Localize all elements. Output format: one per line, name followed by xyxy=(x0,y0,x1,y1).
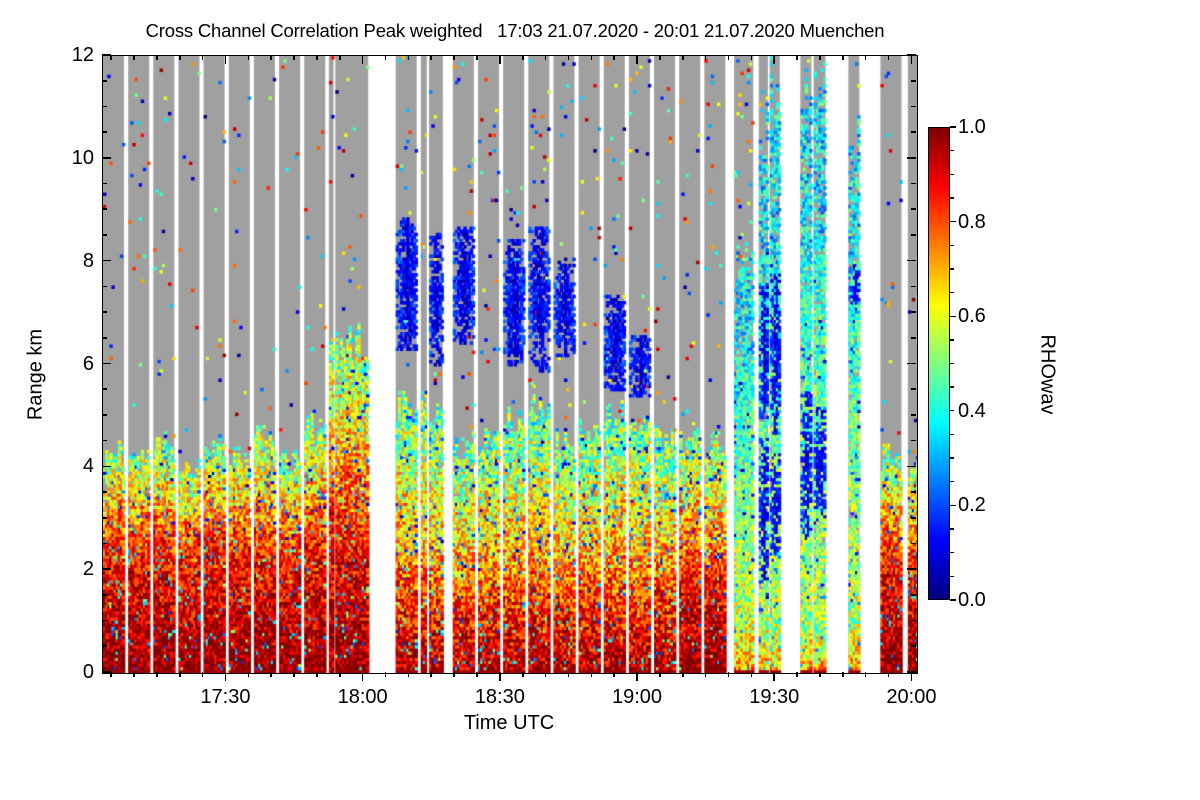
y-minor-tick-right xyxy=(911,620,916,622)
x-minor-tick xyxy=(248,672,250,677)
x-minor-tick-top xyxy=(728,55,730,60)
x-minor-tick-top xyxy=(133,55,135,60)
y-minor-tick xyxy=(102,517,107,519)
x-minor-tick-top xyxy=(522,55,524,60)
x-minor-tick xyxy=(819,672,821,677)
colorbar-minor-tick xyxy=(950,457,954,458)
x-tick-mark xyxy=(773,672,775,681)
x-tick-mark xyxy=(225,672,227,681)
page-title: Cross Channel Correlation Peak weighted … xyxy=(0,20,1030,42)
colorbar-minor-tick xyxy=(950,410,954,411)
x-minor-tick xyxy=(293,672,295,677)
colorbar-tick-mark xyxy=(950,599,956,600)
y-minor-tick xyxy=(102,543,107,545)
y-tick-label: 6 xyxy=(50,354,94,374)
colorbar-tick-label: 1.0 xyxy=(958,117,986,137)
y-tick-mark xyxy=(102,466,111,468)
figure-canvas: Cross Channel Correlation Peak weighted … xyxy=(0,0,1200,800)
x-minor-tick-top xyxy=(385,55,387,60)
y-tick-label: 2 xyxy=(50,559,94,579)
x-minor-tick-top xyxy=(339,55,341,60)
x-minor-tick xyxy=(133,672,135,677)
x-minor-tick xyxy=(888,672,890,677)
x-minor-tick-top xyxy=(796,55,798,60)
y-tick-mark xyxy=(102,260,111,262)
x-tick-label: 20:00 xyxy=(851,686,971,709)
x-minor-tick-top xyxy=(453,55,455,60)
colorbar[interactable] xyxy=(928,127,950,600)
y-minor-tick-right xyxy=(911,183,916,185)
y-minor-tick-right xyxy=(911,311,916,313)
x-minor-tick xyxy=(659,672,661,677)
colorbar-minor-tick xyxy=(950,434,954,435)
colorbar-minor-tick xyxy=(950,386,954,387)
x-minor-tick-top xyxy=(430,55,432,60)
x-minor-tick-top xyxy=(316,55,318,60)
x-minor-tick xyxy=(751,672,753,677)
y-tick-mark-right xyxy=(907,466,916,468)
x-minor-tick-top xyxy=(202,55,204,60)
x-tick-mark xyxy=(911,672,913,681)
y-minor-tick xyxy=(102,645,107,647)
y-tick-mark xyxy=(102,157,111,159)
x-minor-tick xyxy=(385,672,387,677)
y-minor-tick-right xyxy=(911,491,916,493)
x-minor-tick-top xyxy=(613,55,615,60)
x-tick-label: 18:00 xyxy=(303,686,423,709)
x-tick-mark-top xyxy=(636,55,638,64)
x-minor-tick xyxy=(156,672,158,677)
colorbar-tick-mark xyxy=(950,221,956,222)
y-minor-tick-right xyxy=(911,80,916,82)
colorbar-tick-mark xyxy=(950,316,956,317)
y-minor-tick xyxy=(102,337,107,339)
heatmap-plot-area[interactable] xyxy=(102,55,918,674)
y-minor-tick-right xyxy=(911,517,916,519)
colorbar-minor-tick xyxy=(950,528,954,529)
y-minor-tick xyxy=(102,620,107,622)
y-tick-mark xyxy=(102,568,111,570)
y-minor-tick-right xyxy=(911,131,916,133)
y-minor-tick-right xyxy=(911,388,916,390)
colorbar-tick-label: 0.4 xyxy=(958,401,986,421)
y-minor-tick-right xyxy=(911,440,916,442)
colorbar-gradient xyxy=(928,127,950,600)
x-minor-tick-top xyxy=(270,55,272,60)
colorbar-minor-tick xyxy=(950,552,954,553)
y-minor-tick xyxy=(102,286,107,288)
x-minor-tick xyxy=(453,672,455,677)
x-minor-tick xyxy=(865,672,867,677)
y-minor-tick xyxy=(102,208,107,210)
colorbar-minor-tick xyxy=(950,150,954,151)
y-minor-tick-right xyxy=(911,594,916,596)
x-tick-mark-top xyxy=(362,55,364,64)
colorbar-minor-tick xyxy=(950,245,954,246)
y-minor-tick-right xyxy=(911,414,916,416)
x-minor-tick xyxy=(613,672,615,677)
x-minor-tick-top xyxy=(705,55,707,60)
colorbar-minor-tick xyxy=(950,292,954,293)
y-minor-tick xyxy=(102,131,107,133)
x-minor-tick-top xyxy=(408,55,410,60)
y-tick-label: 0 xyxy=(50,662,94,682)
y-tick-label: 12 xyxy=(50,45,94,65)
y-minor-tick-right xyxy=(911,543,916,545)
x-minor-tick-top xyxy=(179,55,181,60)
colorbar-minor-tick xyxy=(950,576,954,577)
colorbar-tick-label: 0.0 xyxy=(958,590,986,610)
x-tick-mark xyxy=(636,672,638,681)
x-minor-tick xyxy=(339,672,341,677)
y-tick-mark-right xyxy=(907,363,916,365)
y-tick-label: 10 xyxy=(50,148,94,168)
x-minor-tick xyxy=(682,672,684,677)
x-minor-tick xyxy=(270,672,272,677)
x-minor-tick-top xyxy=(110,55,112,60)
x-minor-tick-top xyxy=(682,55,684,60)
x-minor-tick-top xyxy=(568,55,570,60)
y-minor-tick xyxy=(102,491,107,493)
x-tick-mark-top xyxy=(911,55,913,64)
y-tick-mark-right xyxy=(907,157,916,159)
x-minor-tick-top xyxy=(865,55,867,60)
x-tick-mark-top xyxy=(499,55,501,64)
y-minor-tick-right xyxy=(911,286,916,288)
heatmap-data-canvas xyxy=(103,56,917,673)
y-axis-title: Range km xyxy=(25,295,48,455)
y-minor-tick-right xyxy=(911,337,916,339)
colorbar-minor-tick xyxy=(950,197,954,198)
colorbar-tick-label: 0.8 xyxy=(958,212,986,232)
x-minor-tick xyxy=(728,672,730,677)
x-tick-label: 19:00 xyxy=(577,686,697,709)
colorbar-minor-tick xyxy=(950,339,954,340)
x-minor-tick-top xyxy=(591,55,593,60)
colorbar-tick-mark xyxy=(950,126,956,127)
y-tick-mark-right xyxy=(907,260,916,262)
x-minor-tick-top xyxy=(476,55,478,60)
x-minor-tick xyxy=(842,672,844,677)
y-tick-mark-right xyxy=(907,568,916,570)
x-minor-tick-top xyxy=(293,55,295,60)
y-tick-mark xyxy=(102,363,111,365)
x-tick-mark xyxy=(499,672,501,681)
x-minor-tick-top xyxy=(888,55,890,60)
x-minor-tick xyxy=(545,672,547,677)
x-minor-tick xyxy=(568,672,570,677)
x-minor-tick xyxy=(202,672,204,677)
x-minor-tick-top xyxy=(819,55,821,60)
colorbar-tick-label: 0.6 xyxy=(958,306,986,326)
x-minor-tick xyxy=(796,672,798,677)
x-minor-tick-top xyxy=(156,55,158,60)
x-tick-mark-top xyxy=(225,55,227,64)
y-minor-tick xyxy=(102,183,107,185)
colorbar-title: RHOwav xyxy=(1036,275,1059,475)
x-minor-tick xyxy=(316,672,318,677)
y-minor-tick-right xyxy=(911,208,916,210)
x-minor-tick xyxy=(522,672,524,677)
x-minor-tick xyxy=(591,672,593,677)
x-minor-tick xyxy=(110,672,112,677)
x-minor-tick-top xyxy=(545,55,547,60)
y-minor-tick xyxy=(102,594,107,596)
colorbar-tick-label: 0.2 xyxy=(958,495,986,515)
x-minor-tick-top xyxy=(659,55,661,60)
colorbar-minor-tick xyxy=(950,363,954,364)
colorbar-minor-tick xyxy=(950,268,954,269)
x-minor-tick xyxy=(476,672,478,677)
y-minor-tick xyxy=(102,80,107,82)
colorbar-minor-tick xyxy=(950,174,954,175)
x-minor-tick-top xyxy=(751,55,753,60)
x-minor-tick xyxy=(705,672,707,677)
y-minor-tick xyxy=(102,106,107,108)
y-minor-tick xyxy=(102,440,107,442)
x-tick-mark xyxy=(362,672,364,681)
y-minor-tick xyxy=(102,234,107,236)
y-minor-tick-right xyxy=(911,106,916,108)
y-minor-tick xyxy=(102,311,107,313)
x-minor-tick xyxy=(408,672,410,677)
y-minor-tick xyxy=(102,414,107,416)
y-minor-tick-right xyxy=(911,645,916,647)
x-tick-mark-top xyxy=(773,55,775,64)
x-tick-label: 17:30 xyxy=(165,686,285,709)
x-minor-tick-top xyxy=(248,55,250,60)
y-minor-tick xyxy=(102,388,107,390)
x-minor-tick xyxy=(179,672,181,677)
colorbar-minor-tick xyxy=(950,481,954,482)
x-tick-label: 19:30 xyxy=(714,686,834,709)
y-minor-tick-right xyxy=(911,234,916,236)
x-axis-title: Time UTC xyxy=(102,712,916,735)
y-tick-label: 4 xyxy=(50,456,94,476)
x-minor-tick-top xyxy=(842,55,844,60)
colorbar-tick-mark xyxy=(950,505,956,506)
x-tick-label: 18:30 xyxy=(440,686,560,709)
y-tick-label: 8 xyxy=(50,251,94,271)
x-minor-tick xyxy=(430,672,432,677)
